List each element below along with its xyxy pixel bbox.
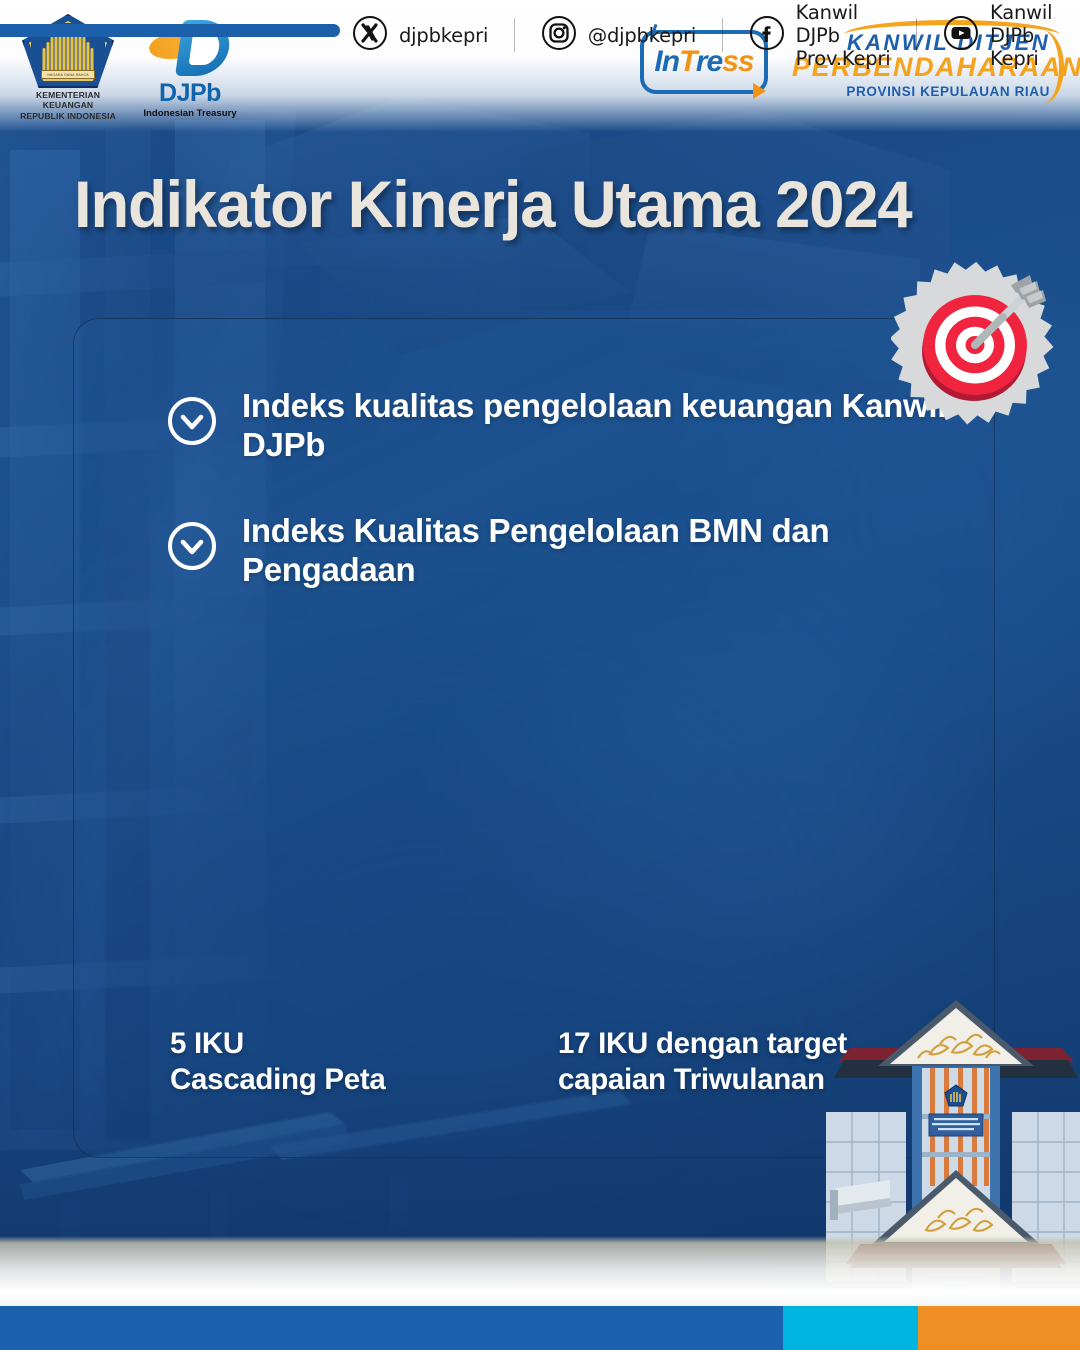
list-item: Indeks kualitas pengelolaan keuangan Kan… [166,387,966,464]
djpb-subtitle: Indonesian Treasury [136,108,244,119]
list-item: Indeks Kualitas Pengelolaan BMN dan Peng… [166,512,966,589]
circle-chevron-down-icon [166,395,218,452]
kanwil-line3: PROVINSI KEPULAUAN RIAU [792,84,1060,99]
social-links: djpbkepri @djpbkepri Kanwi [352,0,1080,70]
social-instagram[interactable]: @djpbkepri [541,15,696,56]
bullet-text: Indeks kualitas pengelolaan keuangan Kan… [242,387,966,464]
social-x[interactable]: djpbkepri [352,15,488,56]
bottom-color-bar [0,1306,1080,1350]
x-twitter-icon [352,15,388,56]
facebook-icon [749,15,785,56]
stat-triwulanan: 17 IKU dengan target capaian Triwulanan [558,1026,847,1097]
kemenkeu-line2: REPUBLIK INDONESIA [16,111,120,121]
stat-line2: capaian Triwulanan [558,1062,847,1097]
color-segment-orange [918,1306,1080,1350]
youtube-icon [943,15,979,56]
footer-social-band [0,1236,1080,1306]
stat-line1: 5 IKU [170,1026,386,1061]
social-instagram-handle: @djpbkepri [588,24,696,47]
kemenkeu-ribbon-text: NAGARA DANA RAKCA [41,70,95,79]
social-youtube-handle: Kanwil DJPb Kepri [990,1,1054,70]
page-title: Indikator Kinerja Utama 2024 [74,166,912,242]
bullet-list: Indeks kualitas pengelolaan keuangan Kan… [166,387,966,637]
color-segment-blue [0,1306,783,1350]
circle-chevron-down-icon [166,520,218,577]
footer-divider [722,18,723,52]
footer-divider [916,18,917,52]
djpb-name: DJPb [136,81,244,106]
stat-line2: Cascading Peta [170,1062,386,1097]
instagram-icon [541,15,577,56]
target-dartboard-with-arrow-icon [891,258,1063,430]
social-youtube[interactable]: Kanwil DJPb Kepri [943,1,1054,70]
footer-divider [514,18,515,52]
bullet-text: Indeks Kualitas Pengelolaan BMN dan Peng… [242,512,966,589]
poster-root: NAGARA DANA RAKCA KEMENTERIAN KEUANGAN R… [0,0,1080,1350]
social-facebook[interactable]: Kanwil DJPb Prov.Kepri [749,1,891,70]
social-facebook-handle: Kanwil DJPb Prov.Kepri [796,1,891,70]
kemenkeu-line1: KEMENTERIAN KEUANGAN [16,90,120,111]
color-segment-cyan [783,1306,918,1350]
stat-line1: 17 IKU dengan target [558,1026,847,1061]
footer-accent-bar [0,24,340,37]
social-x-handle: djpbkepri [399,24,488,47]
stat-cascading: 5 IKU Cascading Peta [170,1026,386,1097]
